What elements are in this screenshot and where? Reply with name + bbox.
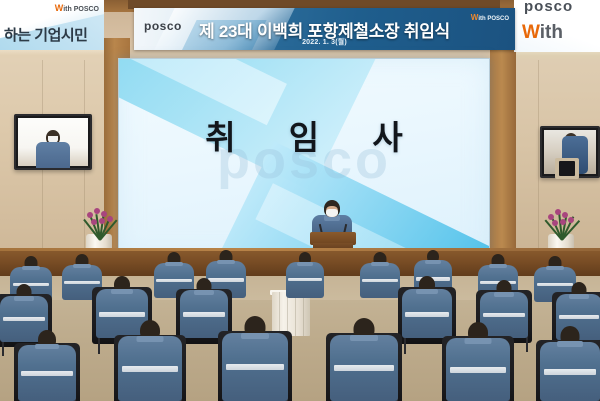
screen-headline: 취 임 사 [119,121,489,154]
audience-member-collar [569,294,589,299]
monitor-video-feed-left [18,118,88,166]
wall-speaker-grill [559,161,575,176]
projection-screen: posco 취 임 사 [118,58,490,260]
wood-pillar-right [490,40,516,268]
monitor-speaker-body [36,142,70,170]
audience-member-collar [494,292,514,297]
with-w-glyph: W [522,22,540,43]
audience-member-collar [137,336,164,342]
uniform-reflective-stripe [483,313,525,317]
audience-member-collar [425,260,441,264]
audience-member [330,318,398,401]
audience-member [18,330,76,401]
audience-member [540,326,600,401]
audience-member-collar [489,264,507,268]
flower-blooms-left [85,206,113,226]
uniform-reflective-stripe [64,281,99,284]
uniform-reflective-stripe [559,315,599,319]
with-posco-w-glyph: W [55,3,64,13]
audience-member-collar [557,341,583,347]
uniform-reflective-stripe [21,371,72,376]
audience-member-collar [217,260,235,264]
uniform-reflective-stripe [450,367,506,373]
uniform-reflective-stripe [405,312,449,317]
uniform-reflective-stripe [334,365,394,371]
with-posco-logo-banner: With POSCO [471,13,509,22]
with-logo-right: With [522,22,563,44]
audience-member-collar [416,289,438,294]
stage-edge-highlight [0,248,600,251]
speaker-face-mask [326,209,338,217]
audience-member-collar [165,262,183,266]
flower-blooms-right [547,206,575,226]
audience-member [286,252,324,298]
event-title-banner: posco 제 23대 이백희 포항제철소장 취임식 2022. 1. 3(월)… [134,8,515,50]
left-banner-slogan: 하는 기업시민 [4,24,87,45]
event-date-text: 2022. 1. 3(월) [134,37,515,47]
audience-member [446,322,510,401]
auditorium-scene: With POSCO 하는 기업시민 posco With posco 제 23… [0,0,600,401]
with-posco-logo-left: With POSCO [55,3,99,13]
audience-member-collar [22,266,40,270]
posco-wordmark-right: posco [524,0,573,15]
audience-member [402,276,452,338]
audience-member-collar [73,264,91,268]
audience-member [222,316,288,401]
uniform-reflective-stripe [226,364,284,370]
audience-member [180,278,228,338]
audience-member-collar [465,338,492,344]
uniform-reflective-stripe [3,317,45,321]
uniform-reflective-stripe [288,278,321,281]
audience-member-collar [350,335,378,341]
audience-member-collar [241,333,269,339]
wall-banner-left: With POSCO 하는 기업시민 [0,0,104,50]
uniform-reflective-stripe [183,312,225,317]
panel-seam [538,60,539,266]
audience-member-collar [194,290,214,295]
uniform-reflective-stripe [544,369,597,375]
audience-member-collar [546,266,564,270]
audience-member-collar [35,344,59,349]
uniform-reflective-stripe [122,366,178,372]
audience-member-collar [297,262,313,266]
uniform-reflective-stripe [99,312,145,317]
audience-member-collar [371,262,389,266]
wall-banner-right: posco With [514,0,600,52]
audience-member [118,320,182,401]
audience-member [360,252,400,298]
left-wall-monitor [14,114,92,170]
audience-member-collar [111,289,133,294]
audience-member-collar [14,296,34,301]
uniform-reflective-stripe [362,279,397,282]
